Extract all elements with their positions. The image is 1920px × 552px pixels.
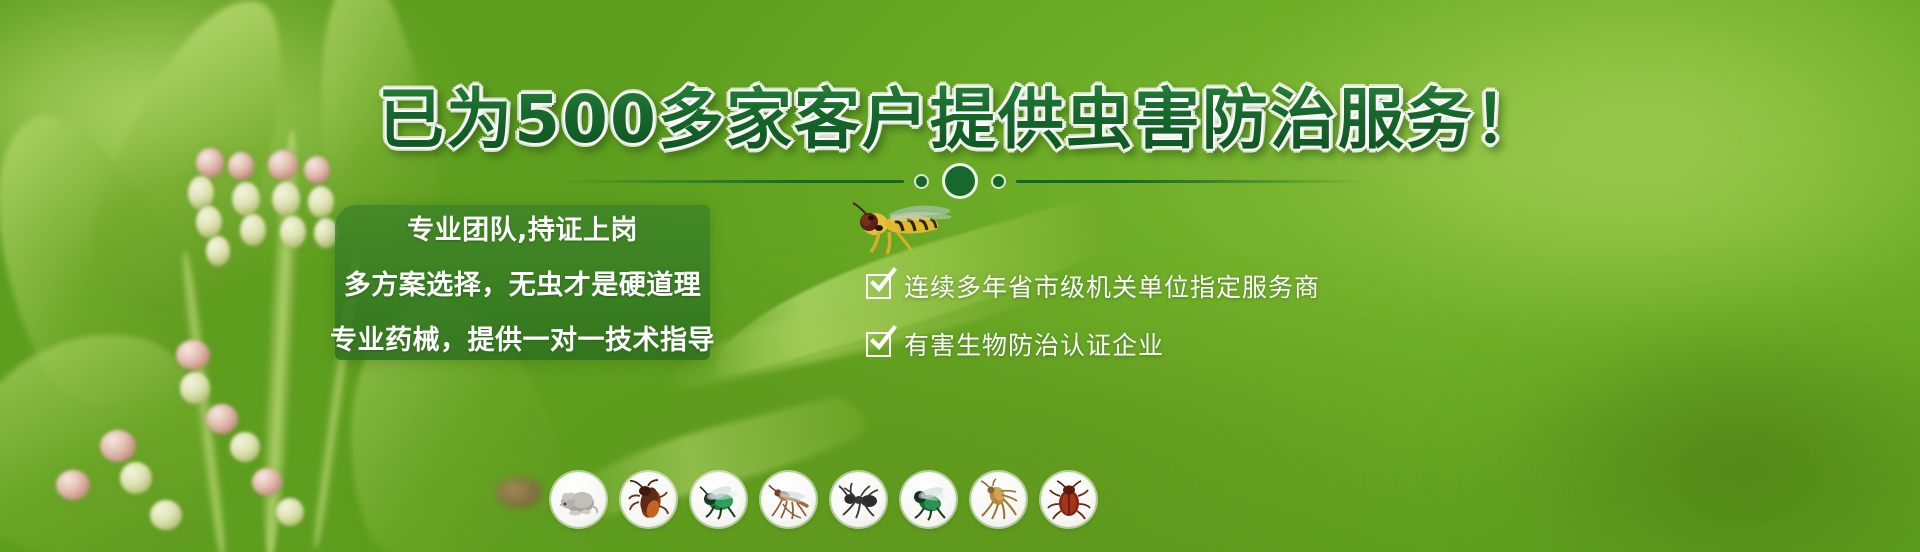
flower-bud xyxy=(120,462,152,494)
feature-line-2: 多方案选择，无虫才是硬道理 xyxy=(344,263,702,302)
promo-banner: 已为500多家客户提供虫害防治服务！ 专业团队,持证上岗 多方案选择，无虫才是硬… xyxy=(0,0,1920,552)
flower-bud xyxy=(180,372,210,404)
flower-bud xyxy=(196,206,222,238)
flower-bud xyxy=(100,430,136,462)
bedbug-icon[interactable] xyxy=(1041,472,1096,527)
feature-line-1: 专业团队,持证上岗 xyxy=(407,208,638,247)
flower-bud xyxy=(252,468,282,496)
hoverfly-illustration xyxy=(845,198,960,258)
list-item: 连续多年省市级机关单位指定服务商 xyxy=(866,268,1320,304)
decorative-divider xyxy=(0,166,1920,196)
feature-line-3: 专业药械，提供一对一技术指导 xyxy=(330,318,715,357)
flower-bud xyxy=(240,214,266,246)
mouse-icon[interactable] xyxy=(551,472,606,527)
list-item: 有害生物防治认证企业 xyxy=(866,326,1320,362)
checklist-item-label: 连续多年省市级机关单位指定服务商 xyxy=(904,268,1320,304)
mosquito-icon[interactable] xyxy=(761,472,816,527)
checklist: 连续多年省市级机关单位指定服务商 有害生物防治认证企业 xyxy=(866,268,1320,362)
checkbox-check-icon xyxy=(866,274,891,299)
flower-bud xyxy=(56,470,90,500)
flower-bud xyxy=(206,404,238,434)
blurred-foreground-bud xyxy=(495,478,541,508)
feature-box: 专业团队,持证上岗 多方案选择，无虫才是硬道理 专业药械，提供一对一技术指导 xyxy=(335,205,710,360)
divider-dot-small-right xyxy=(993,176,1004,187)
divider-dot-large xyxy=(945,166,975,196)
flower-bud xyxy=(230,432,260,462)
divider-line-left xyxy=(554,180,904,183)
flower-bud xyxy=(276,498,304,526)
flower-bud xyxy=(280,216,306,248)
green-bottle-fly-icon[interactable] xyxy=(901,472,956,527)
pest-icon-row xyxy=(551,472,1096,527)
checklist-item-label: 有害生物防治认证企业 xyxy=(904,326,1164,362)
checkbox-check-icon xyxy=(866,332,891,357)
headline: 已为500多家客户提供虫害防治服务！ xyxy=(0,66,1920,162)
headline-text: 已为500多家客户提供虫害防治服务！ xyxy=(378,66,1542,162)
flower-bud xyxy=(206,236,230,266)
flea-icon[interactable] xyxy=(971,472,1026,527)
divider-dot-small-left xyxy=(916,176,927,187)
ant-icon[interactable] xyxy=(831,472,886,527)
flower-bud xyxy=(150,500,182,530)
cockroach-icon[interactable] xyxy=(621,472,676,527)
housefly-icon[interactable] xyxy=(691,472,746,527)
divider-line-right xyxy=(1016,180,1366,183)
flower-bud xyxy=(176,340,210,370)
background-shadow-right xyxy=(1480,312,1920,552)
